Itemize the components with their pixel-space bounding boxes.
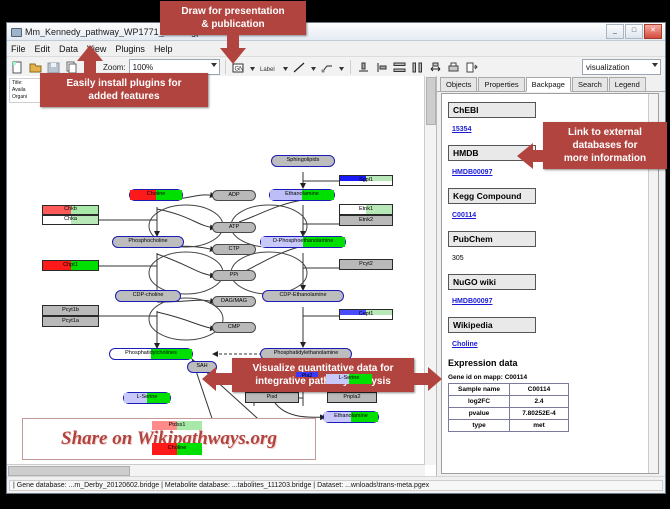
- metabolite-node[interactable]: CMP: [212, 322, 256, 333]
- gene-id-label: Gene id on mapp: C00114: [448, 374, 648, 381]
- line-icon[interactable]: [292, 60, 307, 75]
- callout-link-line3: more information: [551, 152, 659, 165]
- db-section-nugo: NuGO wiki HMDB00097: [448, 272, 648, 308]
- interaction-icon[interactable]: [320, 60, 335, 75]
- canvas-vertical-scrollbar[interactable]: [424, 76, 436, 465]
- table-row: pvalue 7.80252E-4: [449, 408, 569, 420]
- db-name-chebi: ChEBI: [448, 102, 536, 118]
- metabolite-node[interactable]: Sphingolipids: [271, 155, 335, 167]
- close-button[interactable]: ✕: [644, 24, 662, 39]
- svg-text:GN: GN: [234, 66, 243, 72]
- scroll-thumb[interactable]: [8, 466, 130, 476]
- minimize-button[interactable]: _: [606, 24, 624, 39]
- callout-link-arrow-icon: [517, 141, 547, 171]
- metabolite-node[interactable]: L-Serine: [123, 392, 171, 404]
- node-label: L-Serine: [137, 395, 158, 401]
- align-top-icon[interactable]: [356, 60, 371, 75]
- gene-node[interactable]: Chkb: [42, 205, 99, 215]
- expr-value: C00114: [510, 384, 569, 396]
- gene-node[interactable]: Ptdss1: [151, 420, 203, 431]
- gene-node[interactable]: Chpt1: [42, 260, 99, 271]
- metabolite-node[interactable]: CTP: [212, 244, 256, 255]
- node-label: Pcyt1a: [62, 319, 79, 325]
- expr-value: 7.80252E-4: [510, 408, 569, 420]
- expr-value: 2.4: [510, 396, 569, 408]
- node-label: Sgpl1: [359, 178, 373, 184]
- node-label: DAG/MAG: [221, 299, 247, 305]
- callout-draw-line2: & publication: [168, 18, 298, 31]
- db-section-wikipedia: Wikipedia Choline: [448, 315, 648, 351]
- metabolite-node[interactable]: Choline: [129, 189, 183, 201]
- db-section-pubchem: PubChem 305: [448, 229, 648, 265]
- metabolite-node[interactable]: Ethanolamine: [269, 189, 335, 201]
- metabolite-node[interactable]: Phosphocholine: [112, 236, 184, 248]
- zoom-value: 100%: [133, 63, 153, 72]
- line-chevron-down-icon[interactable]: [310, 60, 317, 75]
- menu-item-file[interactable]: File: [11, 44, 26, 54]
- toolbar-separator: [350, 60, 351, 74]
- metabolite-node[interactable]: CDP-choline: [115, 290, 181, 302]
- canvas-horizontal-scrollbar[interactable]: [7, 464, 425, 476]
- tab-legend[interactable]: Legend: [609, 77, 646, 91]
- node-label: Phosphatidylethanolamine: [274, 351, 339, 357]
- callout-visualize: Visualize quantitative data for integrat…: [232, 358, 414, 392]
- tab-search[interactable]: Search: [572, 77, 608, 91]
- callout-draw: Draw for presentation & publication: [160, 1, 306, 35]
- metabolite-node[interactable]: Phosphatidylcholines: [109, 348, 193, 360]
- metabolite-node[interactable]: O-Phosphoethanolamine: [260, 236, 346, 248]
- table-row: log2FC 2.4: [449, 396, 569, 408]
- tab-properties[interactable]: Properties: [478, 77, 524, 91]
- db-name-nugo: NuGO wiki: [448, 274, 536, 290]
- db-section-kegg: Kegg Compound C00114: [448, 186, 648, 222]
- expr-key: Sample name: [449, 384, 510, 396]
- callout-visualize-arrow-right-icon: [410, 366, 442, 392]
- svg-text:Label: Label: [260, 67, 275, 73]
- node-label: SAH: [196, 364, 207, 370]
- gene-node[interactable]: Pcyt1b: [42, 305, 99, 316]
- expr-key: log2FC: [449, 396, 510, 408]
- gene-node[interactable]: Pcyt2: [339, 259, 393, 270]
- metabolite-node[interactable]: PPi: [212, 270, 256, 281]
- visualization-combo[interactable]: visualization: [582, 59, 661, 75]
- callout-plugins-arrow-icon: [75, 45, 105, 75]
- callout-plugins-line2: added features: [48, 90, 200, 103]
- node-label: Cept1: [359, 312, 374, 318]
- node-label: Pnpla2: [343, 395, 360, 401]
- node-label: Chka: [64, 217, 77, 223]
- db-name-wikipedia: Wikipedia: [448, 317, 536, 333]
- common-width-icon[interactable]: [428, 60, 443, 75]
- align-left-icon[interactable]: [374, 60, 389, 75]
- gene-node[interactable]: Cept1: [339, 309, 393, 320]
- node-label: Sphingolipids: [287, 158, 320, 164]
- interaction-chevron-down-icon[interactable]: [338, 60, 345, 75]
- db-link-kegg[interactable]: C00114: [452, 212, 476, 219]
- expression-table: Sample name C00114 log2FC 2.4 pvalue 7.8…: [448, 383, 569, 432]
- export-icon[interactable]: [464, 60, 479, 75]
- node-label: Pisd: [267, 395, 278, 401]
- node-label: Phosphatidylcholines: [125, 351, 177, 357]
- metabolite-node[interactable]: CDP-Ethanolamine: [262, 290, 344, 302]
- metabolite-node[interactable]: L-Serine: [325, 373, 373, 385]
- callout-visualize-arrow-left-icon: [202, 366, 234, 392]
- expr-value: met: [510, 420, 569, 432]
- callout-visualize-line1: Visualize quantitative data for: [240, 362, 406, 375]
- menu-item-plugins[interactable]: Plugins: [115, 44, 145, 54]
- pathway-canvas[interactable]: Title: Availa Organi: [7, 76, 437, 476]
- db-link-wikipedia[interactable]: Choline: [452, 341, 478, 348]
- node-label: Pcyt2: [359, 262, 373, 268]
- db-link-chebi[interactable]: 15354: [452, 126, 471, 133]
- table-row: type met: [449, 420, 569, 432]
- status-bar-text: | Gene database: ...m_Derby_20120602.bri…: [9, 480, 663, 491]
- db-name-kegg: Kegg Compound: [448, 188, 536, 204]
- db-link-nugo[interactable]: HMDB00097: [452, 298, 492, 305]
- metabolite-node[interactable]: Ethanolamine: [323, 411, 379, 423]
- datanode-chevron-down-icon[interactable]: [249, 60, 256, 75]
- node-label: Phosphocholine: [128, 239, 167, 245]
- node-label: O-Phosphoethanolamine: [273, 239, 334, 245]
- callout-draw-line1: Draw for presentation: [168, 5, 298, 18]
- gene-node[interactable]: Etnk2: [339, 215, 393, 226]
- node-label: Ethanolamine: [334, 414, 368, 420]
- callout-draw-arrow-icon: [218, 34, 248, 66]
- expr-key: type: [449, 420, 510, 432]
- side-panel-tabs: Objects Properties Backpage Search Legen…: [437, 76, 665, 92]
- gene-node[interactable]: Etnk1: [339, 204, 393, 215]
- label-icon[interactable]: Label: [259, 60, 279, 75]
- app-icon: [10, 26, 21, 37]
- callout-plugins-line1: Easily install plugins for: [48, 77, 200, 90]
- node-label: Etnk2: [359, 218, 373, 224]
- metabolite-node-selected[interactable]: Choline: [151, 442, 203, 456]
- node-label: Ptdss1: [169, 423, 186, 429]
- menu-item-edit[interactable]: Edit: [35, 44, 51, 54]
- print-icon[interactable]: [446, 60, 461, 75]
- node-label: CTP: [229, 247, 240, 253]
- chevron-down-icon: [652, 63, 658, 67]
- menu-item-help[interactable]: Help: [154, 44, 173, 54]
- callout-plugins: Easily install plugins for added feature…: [40, 73, 208, 107]
- distribute-vertical-icon[interactable]: [392, 60, 407, 75]
- gene-node[interactable]: Chka: [42, 215, 99, 225]
- node-label: PPi: [230, 273, 239, 279]
- table-row: Sample name C00114: [449, 384, 569, 396]
- expression-data-title: Expression data: [448, 358, 648, 368]
- node-label: CDP-choline: [133, 293, 164, 299]
- gene-node[interactable]: Pnpla2: [327, 392, 377, 403]
- node-label: L-Serine: [339, 376, 360, 382]
- chevron-down-icon: [211, 63, 217, 67]
- metabolite-node[interactable]: ATP: [212, 222, 256, 233]
- node-label: Etnk1: [359, 207, 373, 213]
- tab-objects[interactable]: Objects: [440, 77, 477, 91]
- db-value-pubchem: 305: [452, 255, 464, 262]
- menu-bar: File Edit Data View Plugins Help: [7, 41, 665, 57]
- distribute-horizontal-icon[interactable]: [410, 60, 425, 75]
- status-bar: | Gene database: ...m_Derby_20120602.bri…: [7, 476, 665, 493]
- node-label: Pcyt1b: [62, 308, 79, 314]
- visualization-value: visualization: [586, 63, 630, 72]
- node-label: CMP: [228, 325, 240, 331]
- gene-node[interactable]: Pcyt1a: [42, 316, 99, 327]
- db-name-pubchem: PubChem: [448, 231, 536, 247]
- window-title-bar: Mm_Kennedy_pathway_WP1771_45176.gpml _ □…: [7, 23, 665, 41]
- callout-link-line1: Link to external: [551, 126, 659, 139]
- node-label: CDP-Ethanolamine: [279, 293, 326, 299]
- new-file-icon[interactable]: [10, 60, 25, 75]
- node-label: Pla2: [301, 374, 312, 380]
- metabolite-node[interactable]: ADP: [212, 190, 256, 201]
- scroll-thumb[interactable]: [426, 77, 436, 125]
- node-label: Chkb: [64, 207, 77, 213]
- node-label: ATP: [229, 225, 239, 231]
- label-chevron-down-icon[interactable]: [282, 60, 289, 75]
- node-label: Choline: [147, 192, 166, 198]
- gene-node[interactable]: Sgpl1: [339, 175, 393, 186]
- callout-visualize-line2: integrative pathway analysis: [240, 375, 406, 388]
- node-label: Ethanolamine: [285, 192, 319, 198]
- screenshot-root: Mm_Kennedy_pathway_WP1771_45176.gpml _ □…: [0, 0, 670, 509]
- zoom-label: Zoom:: [103, 63, 126, 72]
- window-buttons: _ □ ✕: [606, 24, 662, 39]
- metabolite-node[interactable]: DAG/MAG: [212, 296, 256, 307]
- node-label: Choline: [168, 446, 187, 452]
- gene-node[interactable]: Pisd: [245, 392, 299, 403]
- callout-link-line2: databases for: [551, 139, 659, 152]
- callout-link: Link to external databases for more info…: [543, 122, 667, 169]
- node-label: Chpt1: [63, 263, 78, 269]
- expr-key: pvalue: [449, 408, 510, 420]
- maximize-button[interactable]: □: [625, 24, 643, 39]
- tab-backpage[interactable]: Backpage: [526, 77, 571, 92]
- node-label: ADP: [228, 193, 239, 199]
- db-link-hmdb[interactable]: HMDB00097: [452, 169, 492, 176]
